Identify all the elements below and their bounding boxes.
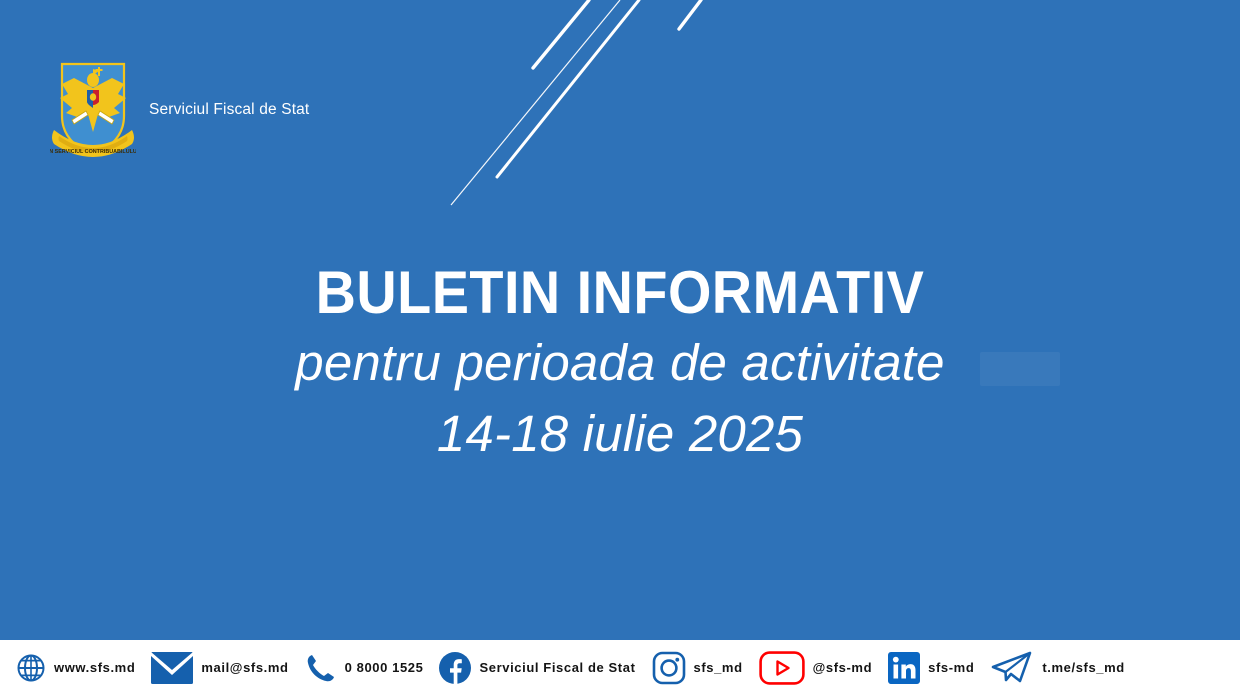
poster-title: BULETIN INFORMATIV: [43, 258, 1196, 328]
contact-linkedin-label: sfs-md: [928, 660, 974, 675]
contact-instagram[interactable]: sfs_md: [652, 651, 759, 685]
youtube-icon: [759, 651, 805, 685]
footer-contact-bar: www.sfs.md mail@sfs.md 0 8000 1525 Servi…: [0, 637, 1240, 698]
poster-subtitle-line2: 14-18 iulie 2025: [0, 398, 1240, 470]
instagram-icon: [652, 651, 686, 685]
contact-facebook-label: Serviciul Fiscal de Stat: [479, 660, 635, 675]
globe-icon: [16, 653, 46, 683]
contact-phone[interactable]: 0 8000 1525: [305, 652, 440, 684]
contact-website[interactable]: www.sfs.md: [16, 653, 151, 683]
contact-youtube-label: @sfs-md: [813, 660, 873, 675]
newsletter-poster: IN SERVICIUL CONTRIBUABILULUI Serviciul …: [0, 0, 1240, 698]
organization-name: Serviciul Fiscal de Stat: [149, 101, 309, 119]
contact-website-label: www.sfs.md: [54, 660, 135, 675]
contact-telegram-label: t.me/sfs_md: [1042, 660, 1124, 675]
linkedin-icon: [888, 652, 920, 684]
telegram-icon: [990, 650, 1034, 686]
brand-header: IN SERVICIUL CONTRIBUABILULUI Serviciul …: [50, 58, 309, 162]
contact-youtube[interactable]: @sfs-md: [759, 651, 889, 685]
title-block: BULETIN INFORMATIV pentru perioada de ac…: [0, 258, 1240, 470]
svg-text:IN SERVICIUL CONTRIBUABILULUI: IN SERVICIUL CONTRIBUABILULUI: [50, 149, 136, 155]
contact-instagram-label: sfs_md: [694, 660, 743, 675]
contact-linkedin[interactable]: sfs-md: [888, 652, 990, 684]
contact-phone-label: 0 8000 1525: [345, 660, 424, 675]
envelope-icon: [151, 652, 193, 684]
facebook-icon: [439, 652, 471, 684]
contact-email-label: mail@sfs.md: [201, 660, 288, 675]
contact-telegram[interactable]: t.me/sfs_md: [990, 650, 1138, 686]
moldova-coat-of-arms-icon: IN SERVICIUL CONTRIBUABILULUI: [50, 58, 136, 162]
contact-facebook[interactable]: Serviciul Fiscal de Stat: [439, 652, 651, 684]
phone-icon: [305, 652, 337, 684]
poster-subtitle-line1: pentru perioada de activitate: [0, 328, 1240, 398]
contact-email[interactable]: mail@sfs.md: [151, 652, 304, 684]
